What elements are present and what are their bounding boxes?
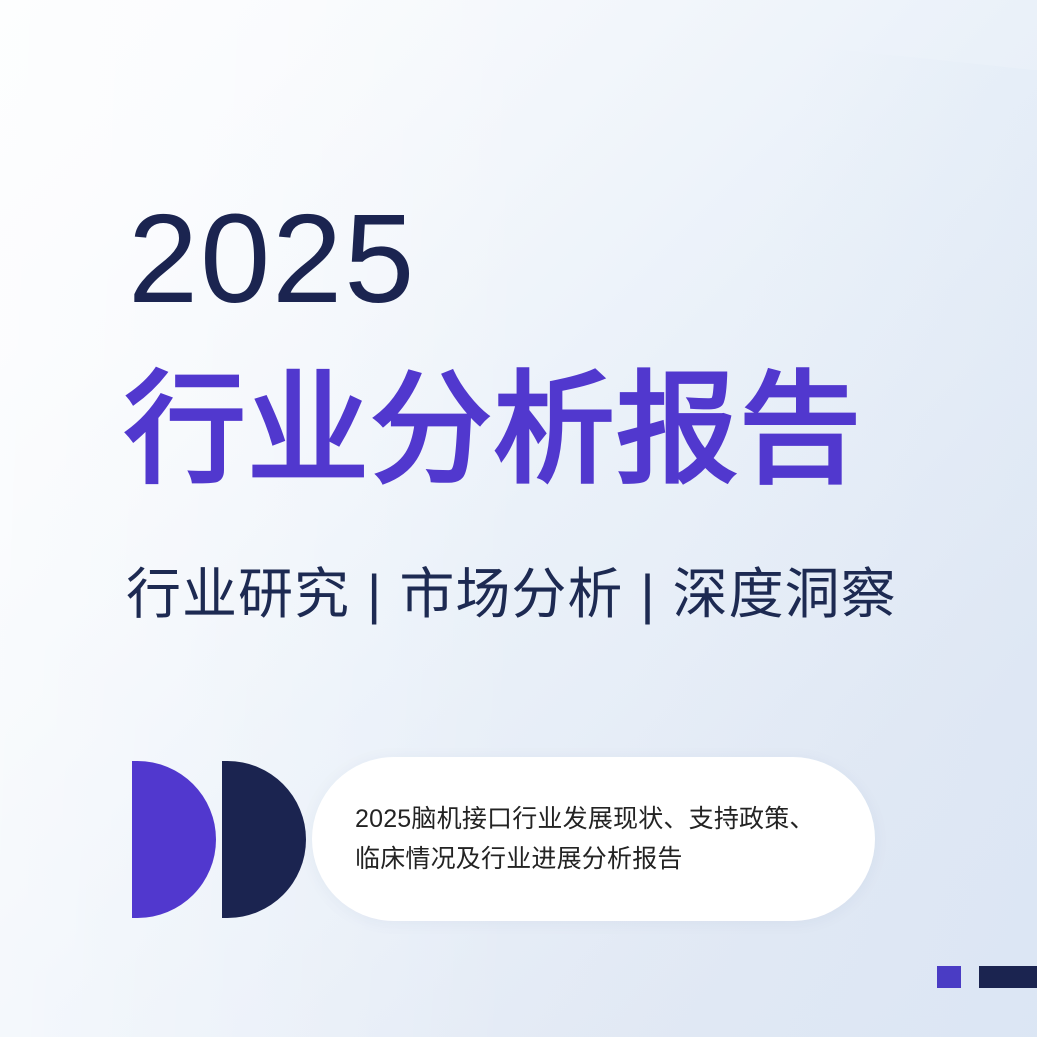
decoration-bar-icon	[979, 966, 1037, 988]
report-cover-page: 2025 行业分析报告 行业研究 | 市场分析 | 深度洞察 2025脑机接口行…	[0, 0, 1037, 1037]
brand-logo	[132, 761, 307, 918]
subtitle-segment-1: 行业研究	[126, 561, 350, 627]
report-title-line-1: 2025脑机接口行业发展现状、支持政策、	[355, 799, 815, 840]
subtitle-segment-2: 市场分析	[399, 561, 623, 627]
report-title-card: 2025脑机接口行业发展现状、支持政策、 临床情况及行业进展分析报告	[312, 757, 875, 921]
cover-subtitle: 行业研究 | 市场分析 | 深度洞察	[126, 561, 897, 627]
subtitle-separator-1: |	[367, 561, 382, 627]
logo-half-disc-navy-icon	[222, 761, 306, 918]
cover-main-title: 行业分析报告	[124, 362, 862, 499]
report-title-line-2: 临床情况及行业进展分析报告	[355, 839, 815, 880]
subtitle-segment-3: 深度洞察	[673, 561, 897, 627]
cover-year: 2025	[128, 196, 416, 322]
decoration-square-icon	[937, 966, 961, 988]
subtitle-separator-2: |	[640, 561, 655, 627]
logo-half-disc-purple-icon	[132, 761, 216, 918]
report-title-text: 2025脑机接口行业发展现状、支持政策、 临床情况及行业进展分析报告	[355, 799, 815, 880]
